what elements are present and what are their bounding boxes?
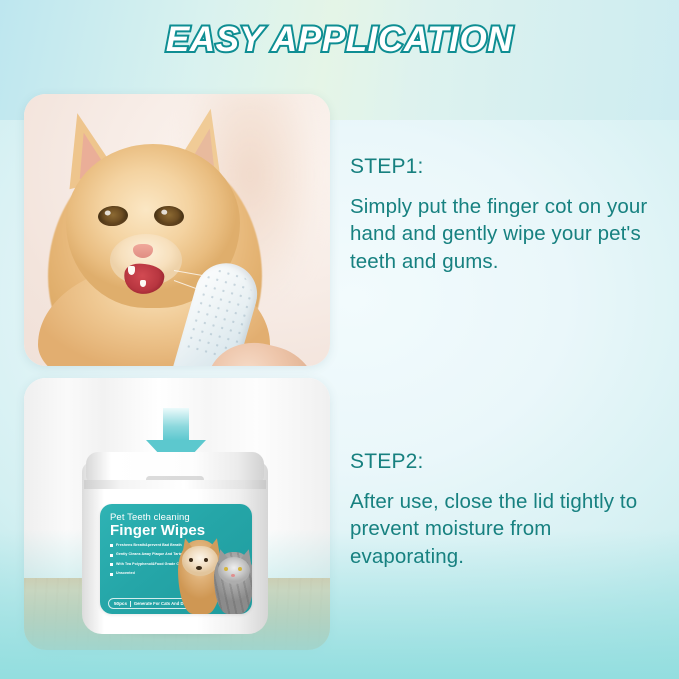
dog-nose [196,566,202,570]
cat-eye-left [224,567,228,571]
steps-container: STEP1: Simply put the finger cot on your… [350,0,663,679]
step-1-body: Simply put the finger cot on your hand a… [350,193,663,275]
cat-illustration [214,552,252,614]
page-title: EASY APPLICATION [166,20,513,60]
jar-neck [84,480,266,489]
bullet-dot-icon [110,544,113,547]
label-count: 50pcs [114,601,127,606]
dog-eye-left [189,558,193,562]
cat-nose [231,574,235,577]
label-pets-photo [178,528,252,614]
product-label: Pet Teeth cleaning Finger Wipes Freshens… [100,504,252,614]
label-bullet-text: Gently Cleans Away Plaque And Tartar [116,553,184,557]
bullet-dot-icon [110,563,113,566]
bullet-dot-icon [110,573,113,576]
arrow-stem [163,408,189,442]
step-2-body: After use, close the lid tightly to prev… [350,488,663,570]
label-divider [130,601,131,607]
cat-eye-right [238,567,242,571]
cat-face [218,557,250,584]
label-bullet-text: Freshens Breath&prevent Bad Breath [116,544,182,548]
infographic-poster: EASY APPLICATION [0,0,679,679]
step-2: STEP2: After use, close the lid tightly … [350,450,663,570]
step2-image-card: Pet Teeth cleaning Finger Wipes Freshens… [24,378,330,650]
step-1: STEP1: Simply put the finger cot on your… [350,155,663,275]
bullet-dot-icon [110,554,113,557]
dog-eye-right [204,558,208,562]
label-bullet-text: Unscented [116,572,135,576]
cat-tooth-upper [128,266,135,275]
title-container: EASY APPLICATION [0,20,679,60]
jar-photo: Pet Teeth cleaning Finger Wipes Freshens… [24,378,330,650]
cat-tooth-lower [140,280,146,287]
step-1-heading: STEP1: [350,155,663,179]
cat-photo [24,94,330,366]
step-2-heading: STEP2: [350,450,663,474]
step1-image-card [24,94,330,366]
jar-lid [86,452,264,482]
dog-face [182,546,218,576]
